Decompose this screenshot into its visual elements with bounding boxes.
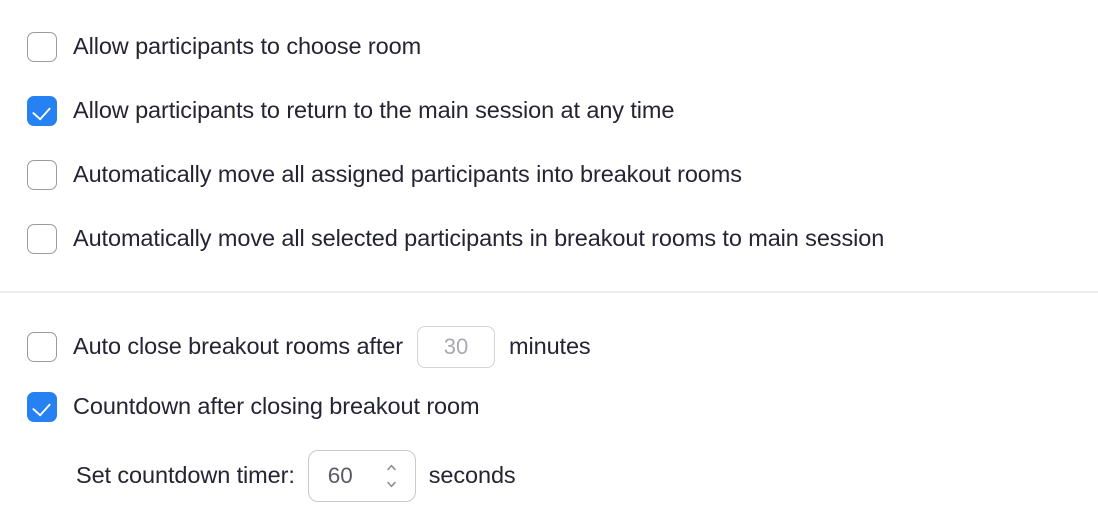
countdown-timer-value[interactable]: 60	[309, 465, 353, 488]
option-row-countdown-after-closing[interactable]: Countdown after closing breakout room	[27, 392, 479, 422]
chevron-up-icon[interactable]	[386, 463, 397, 474]
auto-close-minutes-input[interactable]: 30	[417, 326, 495, 368]
option-row-auto-close-rooms[interactable]: Auto close breakout rooms after 30 minut…	[27, 326, 591, 368]
option-row-allow-choose-room[interactable]: Allow participants to choose room	[27, 32, 421, 62]
countdown-timer-row: Set countdown timer: 60 seconds	[76, 450, 516, 502]
checkbox-allow-choose-room[interactable]	[27, 32, 57, 62]
option-row-auto-move-assigned[interactable]: Automatically move all assigned particip…	[27, 160, 742, 190]
auto-close-minutes-unit: minutes	[509, 335, 591, 359]
option-label-auto-close-rooms: Auto close breakout rooms after	[73, 335, 403, 359]
countdown-timer-stepper-arrows[interactable]	[386, 463, 397, 490]
checkbox-auto-move-selected[interactable]	[27, 224, 57, 254]
option-label-allow-return-main-session: Allow participants to return to the main…	[73, 99, 674, 123]
checkbox-auto-close-rooms[interactable]	[27, 332, 57, 362]
section-divider	[0, 291, 1098, 293]
option-row-auto-move-selected[interactable]: Automatically move all selected particip…	[27, 224, 884, 254]
countdown-timer-label: Set countdown timer:	[76, 464, 295, 488]
option-row-allow-return-main-session[interactable]: Allow participants to return to the main…	[27, 96, 674, 126]
option-label-countdown-after-closing: Countdown after closing breakout room	[73, 395, 479, 419]
checkbox-countdown-after-closing[interactable]	[27, 392, 57, 422]
countdown-timer-stepper[interactable]: 60	[308, 450, 416, 502]
checkbox-auto-move-assigned[interactable]	[27, 160, 57, 190]
countdown-timer-unit: seconds	[429, 464, 516, 488]
option-label-auto-move-assigned: Automatically move all assigned particip…	[73, 163, 742, 187]
chevron-down-icon[interactable]	[386, 479, 397, 490]
option-label-allow-choose-room: Allow participants to choose room	[73, 35, 421, 59]
checkbox-allow-return-main-session[interactable]	[27, 96, 57, 126]
option-label-auto-move-selected: Automatically move all selected particip…	[73, 227, 884, 251]
breakout-rooms-options-panel: Allow participants to choose room Allow …	[0, 0, 1098, 526]
